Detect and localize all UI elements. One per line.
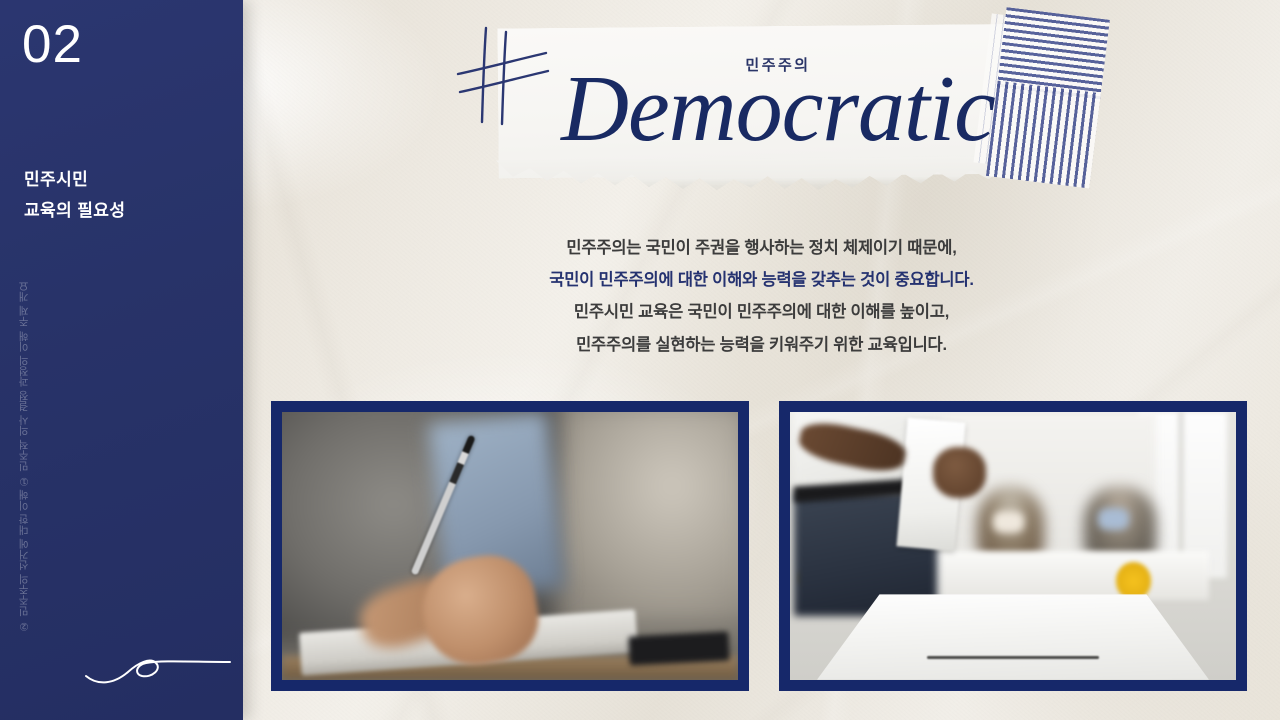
- photo-registration-table: [933, 551, 1210, 599]
- sidebar-heading: 민주시민 교육의 필요성: [24, 164, 125, 227]
- photo-background-blur: [546, 412, 738, 621]
- photo-student-writing: [271, 401, 749, 691]
- body-copy: 민주주의는 국민이 주권을 행사하는 정치 체제이기 때문에, 국민이 민주주의…: [243, 232, 1280, 361]
- sidebar-note-2: ② 민주주의 선거에 대한 이해: [16, 490, 96, 632]
- sidebar-heading-line-2: 교육의 필요성: [24, 195, 125, 226]
- photo-ballot-box-image: [790, 412, 1236, 680]
- body-line: 민주주의는 국민이 주권을 행사하는 정치 체제이기 때문에,: [243, 232, 1280, 264]
- presentation-slide: 02 민주시민 교육의 필요성 ② 민주주의 선거에 대한 이해 ① 민주적 의…: [0, 0, 1280, 720]
- photo-ballot-slot: [927, 656, 1100, 659]
- slide-number: 02: [22, 18, 83, 71]
- title-banner: 민주주의 Democratic: [498, 26, 1058, 194]
- body-line-accent: 국민이 민주주의에 대한 이해와 능력을 갖추는 것이 중요합니다.: [243, 264, 1280, 296]
- sidebar-note-1: ① 민주적 의사 결정 과정의 이해: [16, 330, 96, 486]
- banner-title: Democratic: [498, 62, 1058, 156]
- sidebar-heading-line-1: 민주시민: [24, 164, 125, 195]
- photo-student-writing-image: [282, 412, 738, 680]
- photo-illustration: [790, 412, 1236, 680]
- photo-yellow-marker-right: [1116, 562, 1152, 600]
- sidebar: 02 민주시민 교육의 필요성 ② 민주주의 선거에 대한 이해 ① 민주적 의…: [0, 0, 243, 720]
- body-line: 민주시민 교육은 국민이 민주주의에 대한 이해를 높이고,: [243, 296, 1280, 328]
- photo-illustration: [282, 412, 738, 680]
- photo-voter-hand: [933, 447, 987, 498]
- photo-ballot-box: [817, 594, 1209, 680]
- sidebar-vertical-notes: ② 민주주의 선거에 대한 이해 ① 민주적 의사 결정 과정의 이해 주제 개…: [16, 352, 96, 632]
- sidebar-note-topic: 주제 개요: [16, 282, 96, 328]
- photo-face-mask-a: [993, 511, 1024, 532]
- body-line: 민주주의를 실현하는 능력을 키워주기 위한 교육입니다.: [243, 329, 1280, 361]
- photo-ballot-box-voting: [779, 401, 1247, 691]
- photo-face-mask-b: [1098, 508, 1129, 529]
- hash-mark-icon: [454, 22, 550, 132]
- squiggle-flourish-icon: [84, 636, 234, 692]
